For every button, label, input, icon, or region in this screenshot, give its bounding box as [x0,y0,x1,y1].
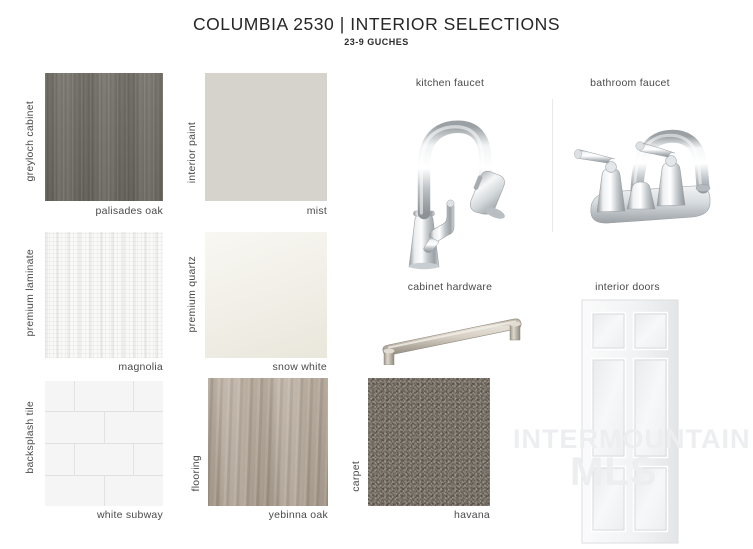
category-label-greyloch-cabinet: greyloch cabinet [24,101,36,181]
cabinet-hardware-photo[interactable] [372,300,532,365]
bathroom-faucet-photo[interactable] [553,95,738,235]
category-label-flooring: flooring [190,455,202,491]
kitchen-faucet-icon [375,95,520,270]
swatch-flooring[interactable] [208,378,328,506]
category-label-carpet: carpet [350,461,362,492]
value-label-yebinna-oak: yebinna oak [208,509,328,521]
value-label-havana: havana [370,509,490,521]
product-label-cabinet-hardware: cabinet hardware [370,281,530,293]
product-label-kitchen-faucet: kitchen faucet [370,77,530,89]
page-title: COLUMBIA 2530 | INTERIOR SELECTIONS [0,14,753,34]
six-panel-door-icon [580,298,680,544]
value-label-palisades-oak: palisades oak [43,205,163,217]
swatch-carpet[interactable] [368,378,490,506]
board-header: COLUMBIA 2530 | INTERIOR SELECTIONS 23-9… [0,14,753,47]
category-label-premium-laminate: premium laminate [24,249,36,336]
value-label-mist: mist [207,205,327,217]
swatch-interior-paint[interactable] [205,73,327,201]
category-label-premium-quartz: premium quartz [186,256,198,332]
kitchen-faucet-photo[interactable] [375,95,520,270]
value-label-magnolia: magnolia [43,361,163,373]
category-label-interior-paint: interior paint [186,122,198,183]
interior-door-photo[interactable] [580,298,680,544]
swatch-premium-quartz[interactable] [205,232,327,358]
product-label-bathroom-faucet: bathroom faucet [545,77,715,89]
bathroom-faucet-icon [553,95,738,235]
page-subtitle: 23-9 GUCHES [0,37,753,47]
interior-selections-board: COLUMBIA 2530 | INTERIOR SELECTIONS 23-9… [0,0,753,544]
swatch-premium-laminate[interactable] [45,232,163,358]
swatch-greyloch-cabinet[interactable] [45,73,163,201]
product-label-interior-doors: interior doors [555,281,700,293]
bar-pull-icon [372,300,532,365]
category-label-backsplash-tile: backsplash tile [24,401,36,474]
value-label-snow-white: snow white [207,361,327,373]
swatch-backsplash-tile[interactable] [45,381,163,506]
value-label-white-subway: white subway [43,509,163,521]
